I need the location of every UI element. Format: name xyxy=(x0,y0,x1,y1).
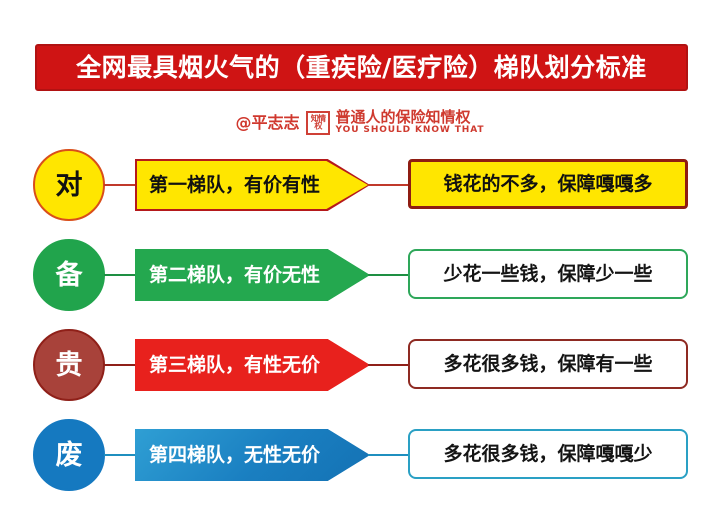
tier-row-2: 备 第二梯队，有价无性 少花一些钱，保障少一些 xyxy=(0,235,720,315)
connector-badge-to-arrow xyxy=(104,454,137,456)
connector-arrow-to-result xyxy=(368,184,410,186)
seal-text: 知情权 xyxy=(309,116,325,130)
tier-arrow-4: 第四梯队，无性无价 xyxy=(135,429,370,481)
tier-badge-1: 对 xyxy=(33,149,105,221)
red-seal-stamp-icon: 知情权 xyxy=(306,111,330,135)
tier-row-3: 贵 第三梯队，有性无价 多花很多钱，保障有一些 xyxy=(0,325,720,405)
connector-arrow-to-result xyxy=(368,454,410,456)
watermark-slogan: 普通人的保险知情权 YOU SHOULD KNOW THAT xyxy=(336,110,485,136)
connector-badge-to-arrow xyxy=(104,364,137,366)
tier-arrow-2: 第二梯队，有价无性 xyxy=(135,249,370,301)
tier-arrow-label: 第一梯队，有价有性 xyxy=(135,176,320,195)
result-box-1: 钱花的不多，保障嘎嘎多 xyxy=(408,159,688,209)
tier-arrow-1: 第一梯队，有价有性 xyxy=(135,159,370,211)
result-label: 少花一些钱，保障少一些 xyxy=(443,265,652,284)
tier-row-4: 废 第四梯队，无性无价 多花很多钱，保障嘎嘎少 xyxy=(0,415,720,495)
tier-badge-label: 备 xyxy=(56,262,83,289)
connector-arrow-to-result xyxy=(368,274,410,276)
tier-badge-3: 贵 xyxy=(33,329,105,401)
watermark-handle: @平志志 xyxy=(236,115,300,131)
tier-badge-2: 备 xyxy=(33,239,105,311)
result-label: 多花很多钱，保障嘎嘎少 xyxy=(443,445,652,464)
watermark-slogan-en: YOU SHOULD KNOW THAT xyxy=(336,125,485,136)
connector-arrow-to-result xyxy=(368,364,410,366)
result-box-4: 多花很多钱，保障嘎嘎少 xyxy=(408,429,688,479)
title-banner: 全网最具烟火气的（重疾险/医疗险）梯队划分标准 xyxy=(35,44,688,91)
tier-arrow-label: 第四梯队，无性无价 xyxy=(135,446,320,465)
tier-badge-label: 贵 xyxy=(56,352,83,379)
watermark-slogan-cn: 普通人的保险知情权 xyxy=(336,110,485,125)
connector-badge-to-arrow xyxy=(104,274,137,276)
result-box-3: 多花很多钱，保障有一些 xyxy=(408,339,688,389)
page-title: 全网最具烟火气的（重疾险/医疗险）梯队划分标准 xyxy=(76,55,647,80)
tier-badge-4: 废 xyxy=(33,419,105,491)
result-label: 多花很多钱，保障有一些 xyxy=(443,355,652,374)
result-box-2: 少花一些钱，保障少一些 xyxy=(408,249,688,299)
tier-row-1: 对 第一梯队，有价有性 钱花的不多，保障嘎嘎多 xyxy=(0,145,720,225)
tier-arrow-3: 第三梯队，有性无价 xyxy=(135,339,370,391)
tier-arrow-label: 第二梯队，有价无性 xyxy=(135,266,320,285)
infographic-canvas: 全网最具烟火气的（重疾险/医疗险）梯队划分标准 @平志志 知情权 普通人的保险知… xyxy=(0,0,720,518)
tier-badge-label: 废 xyxy=(56,442,83,469)
tier-badge-label: 对 xyxy=(56,172,83,199)
tier-arrow-label: 第三梯队，有性无价 xyxy=(135,356,320,375)
connector-badge-to-arrow xyxy=(104,184,137,186)
result-label: 钱花的不多，保障嘎嘎多 xyxy=(443,175,652,194)
watermark: @平志志 知情权 普通人的保险知情权 YOU SHOULD KNOW THAT xyxy=(0,108,720,138)
